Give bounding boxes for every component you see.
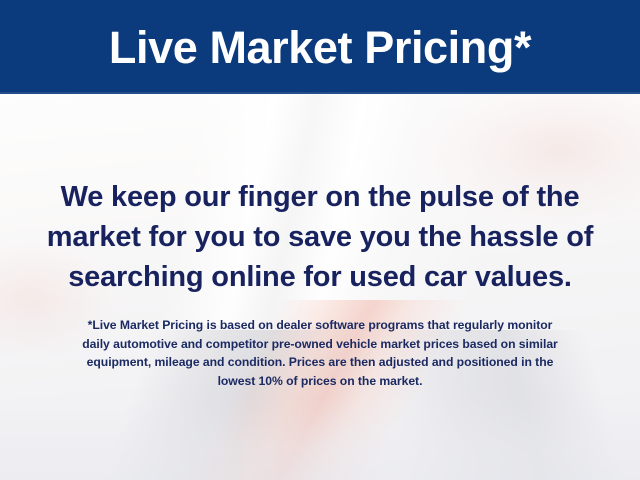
header-band: Live Market Pricing* [0, 0, 640, 94]
live-market-pricing-banner: Live Market Pricing* We keep our finger … [0, 0, 640, 480]
disclaimer-line-4: lowest 10% of prices on the market. [22, 372, 618, 391]
disclaimer-line-2: daily automotive and competitor pre-owne… [22, 335, 618, 354]
headline-line-3: searching online for used car values. [26, 257, 614, 297]
headline-line-1: We keep our finger on the pulse of the [26, 177, 614, 217]
background-photo-bottom-wash [0, 400, 640, 480]
disclaimer-line-3: equipment, mileage and condition. Prices… [22, 353, 618, 372]
disclaimer-block: *Live Market Pricing is based on dealer … [0, 316, 640, 390]
disclaimer-line-1: *Live Market Pricing is based on dealer … [22, 316, 618, 335]
page-title: Live Market Pricing* [109, 25, 531, 70]
headline-block: We keep our finger on the pulse of the m… [0, 177, 640, 297]
headline-line-2: market for you to save you the hassle of [26, 217, 614, 257]
